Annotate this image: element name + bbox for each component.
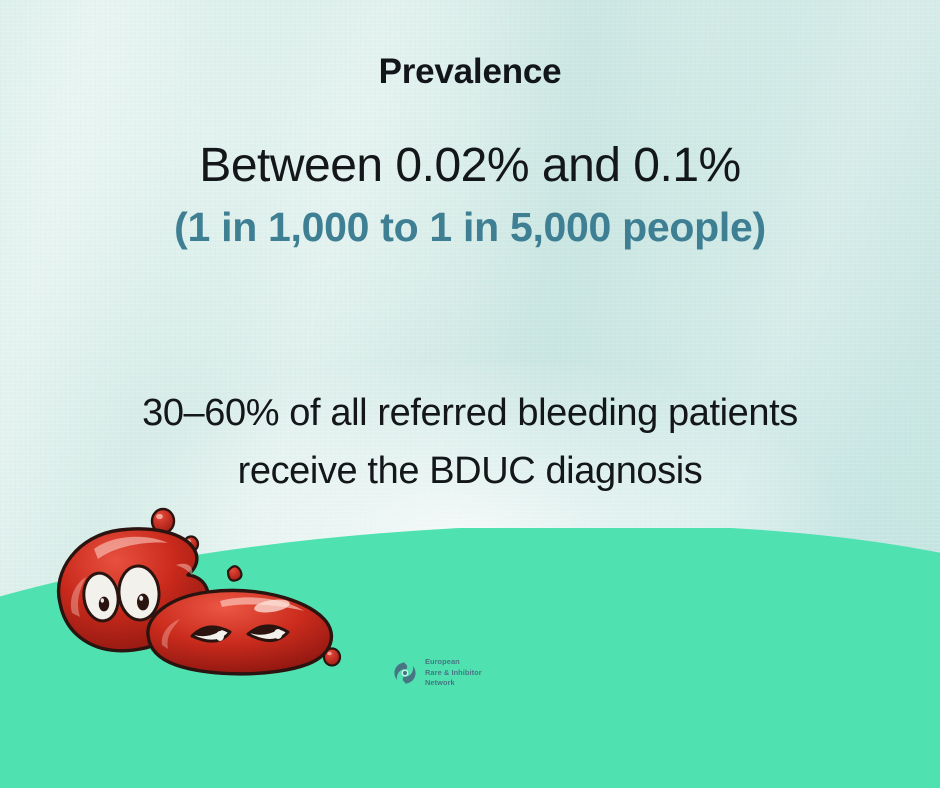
network-swirl-icon	[392, 660, 418, 686]
logo-line-2: Rare & Inhibitor	[425, 668, 482, 679]
prevalence-percentage: Between 0.02% and 0.1%	[0, 138, 940, 193]
logo-line-3: Network	[425, 678, 482, 689]
logo-line-1: European	[425, 657, 482, 668]
infographic-card: Prevalence Between 0.02% and 0.1% (1 in …	[0, 0, 940, 788]
logo-wordmark: European Rare & Inhibitor Network	[425, 657, 482, 689]
page-title: Prevalence	[0, 52, 940, 92]
prevalence-ratio: (1 in 1,000 to 1 in 5,000 people)	[120, 198, 820, 256]
blood-character-right	[148, 590, 332, 673]
organisation-logo: European Rare & Inhibitor Network	[392, 657, 482, 689]
blood-drop-characters-illustration	[42, 505, 362, 695]
bduc-diagnosis-statement: 30–60% of all referred bleeding patients…	[92, 384, 848, 500]
blood-droplet-small-right	[228, 566, 241, 580]
